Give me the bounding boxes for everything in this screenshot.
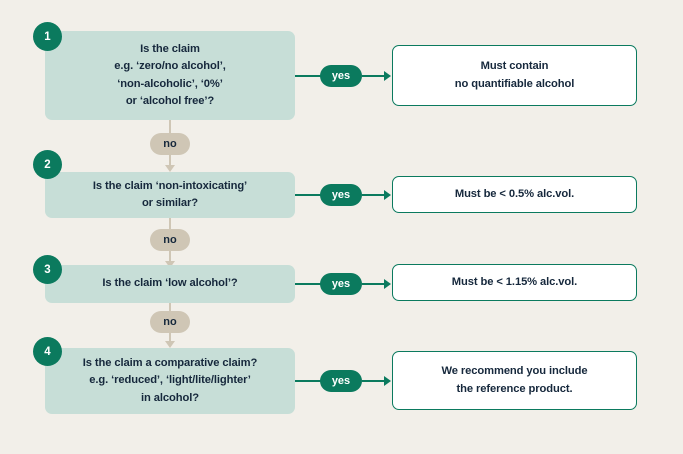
result-box-2: Must be < 0.5% alc.vol. (392, 176, 637, 213)
question-text-3: Is the claim ‘low alcohol’? (102, 275, 237, 292)
step-number-1: 1 (44, 31, 50, 43)
result-text-1: Must contain no quantifiable alcohol (455, 58, 575, 93)
yes-label-4: yes (332, 375, 350, 387)
step-number-4: 4 (44, 346, 50, 358)
yes-label-3: yes (332, 278, 350, 290)
no-pill-3: no (150, 311, 190, 333)
result-text-3: Must be < 1.15% alc.vol. (452, 274, 577, 291)
question-box-1: Is the claim e.g. ‘zero/no alcohol’, ‘no… (45, 31, 295, 120)
arrow-no-3 (165, 341, 175, 348)
question-box-2: Is the claim ‘non-intoxicating’ or simil… (45, 172, 295, 218)
arrow-yes-4 (384, 376, 391, 386)
arrow-no-1 (165, 165, 175, 172)
yes-pill-3: yes (320, 273, 362, 295)
result-text-4: We recommend you include the reference p… (442, 363, 588, 398)
no-pill-2: no (150, 229, 190, 251)
result-box-4: We recommend you include the reference p… (392, 351, 637, 410)
yes-pill-1: yes (320, 65, 362, 87)
step-badge-3: 3 (33, 255, 62, 284)
flowchart-canvas: Is the claim e.g. ‘zero/no alcohol’, ‘no… (0, 0, 683, 454)
result-box-1: Must contain no quantifiable alcohol (392, 45, 637, 106)
question-box-3: Is the claim ‘low alcohol’? (45, 265, 295, 303)
arrow-yes-1 (384, 71, 391, 81)
arrow-yes-3 (384, 279, 391, 289)
step-badge-2: 2 (33, 150, 62, 179)
no-label-1: no (163, 138, 176, 150)
connector-yes-line-1 (295, 75, 322, 77)
no-pill-1: no (150, 133, 190, 155)
question-text-2: Is the claim ‘non-intoxicating’ or simil… (93, 178, 247, 212)
yes-label-2: yes (332, 189, 350, 201)
connector-yes-line-3 (295, 283, 322, 285)
no-label-2: no (163, 234, 176, 246)
connector-yes-line-2 (295, 194, 322, 196)
yes-label-1: yes (332, 70, 350, 82)
question-box-4: Is the claim a comparative claim? e.g. ‘… (45, 348, 295, 414)
step-number-2: 2 (44, 159, 50, 171)
step-badge-4: 4 (33, 337, 62, 366)
no-label-3: no (163, 316, 176, 328)
connector-no-line-1a (169, 120, 171, 134)
question-text-4: Is the claim a comparative claim? e.g. ‘… (83, 355, 258, 406)
connector-yes-line-4 (295, 380, 322, 382)
yes-pill-2: yes (320, 184, 362, 206)
result-box-3: Must be < 1.15% alc.vol. (392, 264, 637, 301)
question-text-1: Is the claim e.g. ‘zero/no alcohol’, ‘no… (114, 41, 225, 109)
yes-pill-4: yes (320, 370, 362, 392)
arrow-yes-2 (384, 190, 391, 200)
result-text-2: Must be < 0.5% alc.vol. (455, 186, 574, 203)
step-badge-1: 1 (33, 22, 62, 51)
step-number-3: 3 (44, 264, 50, 276)
